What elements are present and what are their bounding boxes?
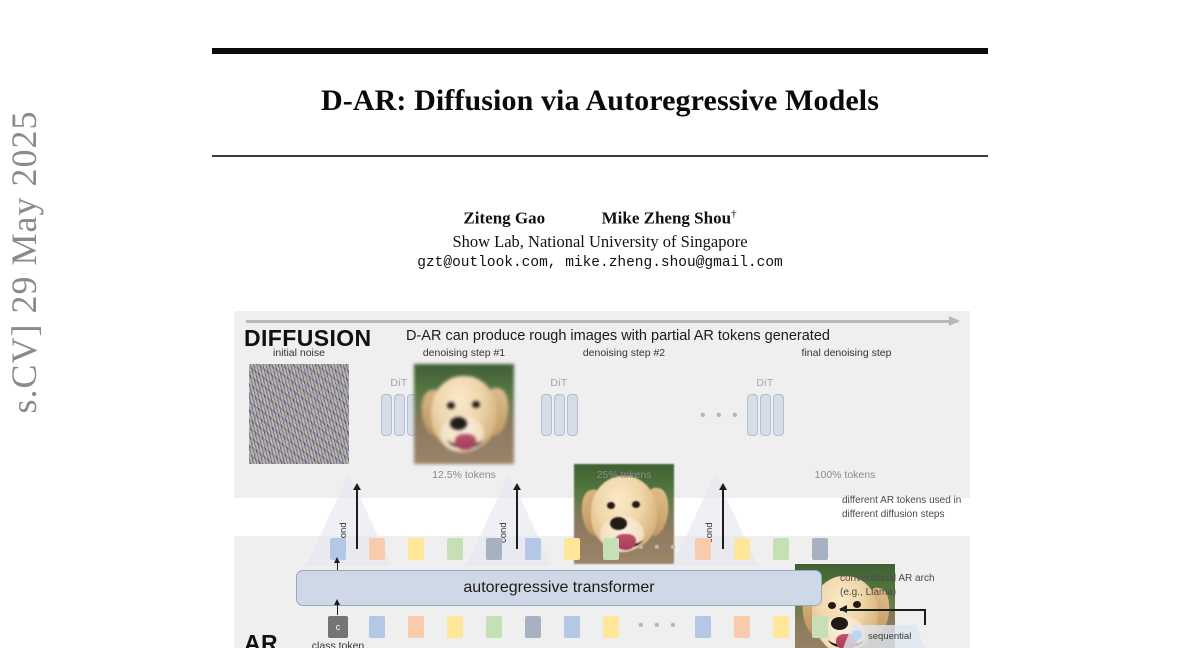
noise-image: [249, 364, 349, 464]
dit-label-1: DiT: [379, 377, 419, 389]
token-out-2: [369, 538, 385, 560]
class-token: c: [328, 616, 348, 638]
dog-eye-left: [607, 502, 615, 509]
token-out-10: [734, 538, 750, 560]
dit-block-2: DiT: [539, 394, 579, 434]
cond-arrow-1: [356, 489, 358, 549]
author-emails: gzt@outlook.com, mike.zheng.shou@gmail.c…: [212, 255, 988, 271]
paper-column: D-AR: Diffusion via Autoregressive Model…: [212, 0, 988, 648]
token-in-2: [408, 616, 424, 638]
token-in-7: [603, 616, 619, 638]
token-out-6: [525, 538, 541, 560]
token-out-ellipsis: • • •: [638, 539, 679, 557]
page-title: D-AR: Diffusion via Autoregressive Model…: [212, 84, 988, 118]
token-in-1: [369, 616, 385, 638]
step-caption-0: initial noise: [234, 347, 364, 359]
token-out-11: [773, 538, 789, 560]
dit-bar: [567, 394, 578, 436]
token-out-7: [564, 538, 580, 560]
token-caption-2: 25% tokens: [574, 469, 674, 481]
author-1: Ziteng Gao: [463, 209, 545, 228]
dit-block-3: DiT: [745, 394, 785, 434]
sequential-label: sequential: [868, 631, 911, 642]
dit-bar: [773, 394, 784, 436]
dit-bar: [747, 394, 758, 436]
dit-bar: [760, 394, 771, 436]
step-caption-3: final denoising step: [754, 347, 939, 359]
steps-ellipsis: • • •: [700, 407, 741, 425]
token-in-9: [734, 616, 750, 638]
token-in-5: [525, 616, 541, 638]
autoregressive-transformer-block: autoregressive transformer: [296, 570, 822, 606]
token-out-12: [812, 538, 828, 560]
dit-bar: [554, 394, 565, 436]
dog-eye-left: [828, 602, 836, 609]
token-in-3: [447, 616, 463, 638]
class-token-caption: class token: [298, 640, 378, 648]
token-out-3: [408, 538, 424, 560]
progress-arrow-icon: [246, 320, 958, 323]
note-diffusion-line1: different AR tokens used in: [842, 494, 961, 508]
teaser-figure: DIFFUSION AR D-AR can produce rough imag…: [234, 311, 970, 648]
cond-arrow-3: [722, 489, 724, 549]
token-out-5: [486, 538, 502, 560]
token-in-8: [695, 616, 711, 638]
ar-section-label: AR: [244, 630, 278, 648]
title-rule-top: [212, 48, 988, 54]
token-out-4: [447, 538, 463, 560]
author-2-footnote-marker: †: [731, 208, 737, 220]
dit-bar: [394, 394, 405, 436]
token-caption-3: 100% tokens: [795, 469, 895, 481]
dog-tongue: [455, 434, 476, 450]
affiliation: Show Lab, National University of Singapo…: [212, 232, 988, 252]
figure-headline: D-AR can produce rough images with parti…: [406, 328, 830, 344]
step-caption-2: denoising step #2: [539, 347, 709, 359]
dog-eye-right: [472, 401, 480, 408]
author-2: Mike Zheng Shou: [602, 209, 731, 228]
author-block: Ziteng Gao Mike Zheng Shou† Show Lab, Na…: [212, 208, 988, 271]
note-diffusion-line2: different diffusion steps: [842, 508, 961, 522]
dit-bar: [541, 394, 552, 436]
note-ar-line2: (e.g., Llama): [840, 586, 935, 600]
dog-eye-right: [853, 601, 861, 608]
sequential-loop-arrow: [840, 609, 926, 611]
token-in-11: [812, 616, 828, 638]
dog-eye-left: [447, 402, 455, 409]
title-rule-bottom: [212, 155, 988, 157]
dit-label-3: DiT: [745, 377, 785, 389]
dit-bar: [381, 394, 392, 436]
token-in-10: [773, 616, 789, 638]
dit-block-1: DiT: [379, 394, 419, 434]
author-names: Ziteng Gao Mike Zheng Shou†: [212, 208, 988, 229]
arxiv-sidebar-stamp: s.CV] 29 May 2025: [0, 2, 54, 522]
dog-image-1: [414, 364, 514, 464]
token-out-8: [603, 538, 619, 560]
dit-label-2: DiT: [539, 377, 579, 389]
token-caption-1: 12.5% tokens: [414, 469, 514, 481]
token-in-4: [486, 616, 502, 638]
cond-arrow-2: [516, 489, 518, 549]
token-out-9: [695, 538, 711, 560]
transformer-input-arrow: [337, 604, 338, 615]
note-ar-line1: conventional AR arch: [840, 572, 935, 586]
step-caption-1: denoising step #1: [379, 347, 549, 359]
token-in-ellipsis: • • •: [638, 617, 679, 635]
sequential-dot-icon: [852, 630, 862, 640]
note-ar: conventional AR arch (e.g., Llama): [840, 572, 935, 599]
note-diffusion: different AR tokens used in different di…: [842, 494, 961, 521]
token-in-6: [564, 616, 580, 638]
sequential-loop-stem: [924, 609, 926, 625]
dog-eye-right: [632, 501, 640, 508]
